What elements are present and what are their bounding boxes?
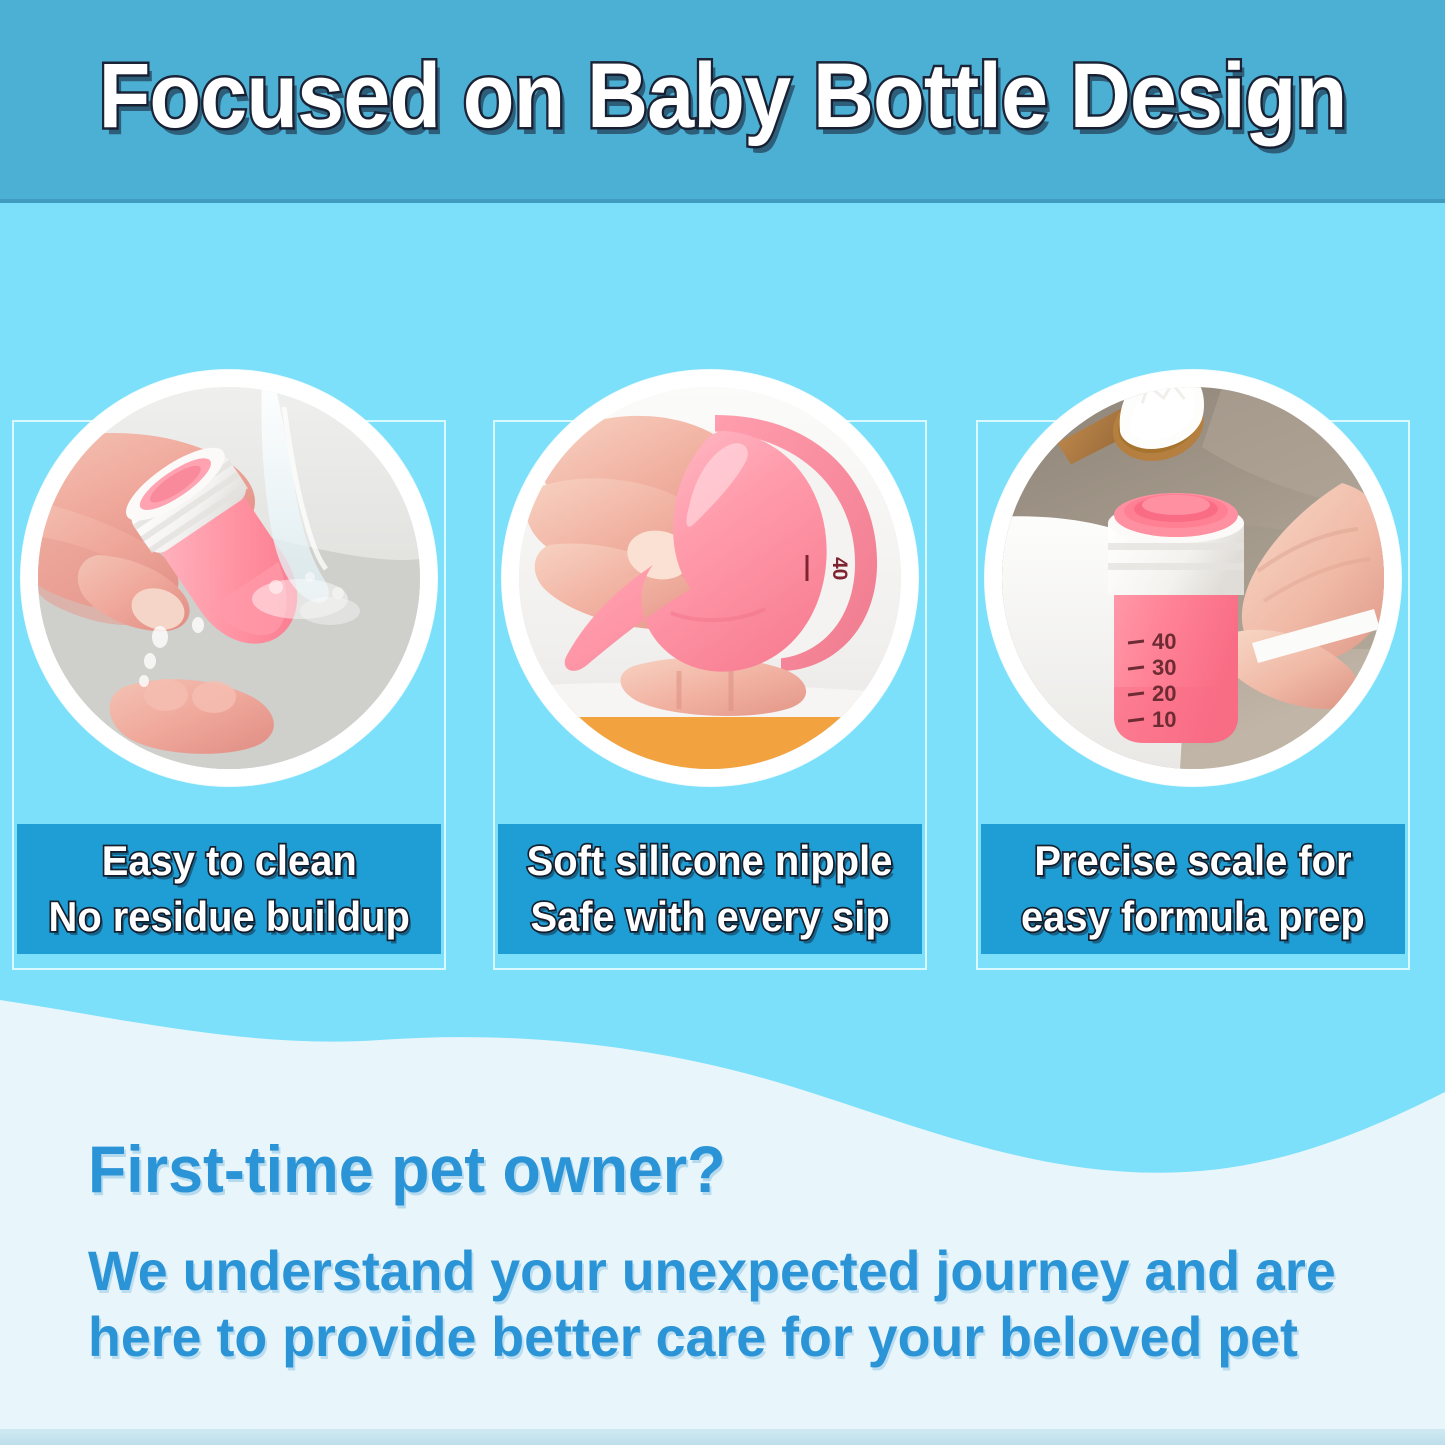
- photo-illustration-1: [38, 387, 420, 769]
- caption-line-3b: easy formula prep: [1021, 889, 1365, 945]
- bottle-scale-label-40: 40: [828, 557, 851, 580]
- bottom-body-text: We understand your unexpected journey an…: [88, 1238, 1368, 1370]
- caption-line-2b: Safe with every sip: [530, 889, 889, 945]
- feature-caption-1: Easy to clean No residue buildup: [17, 824, 441, 954]
- formula-scoop-and-scaled-bottle-photo: 40 30 20 10: [1002, 387, 1384, 769]
- scale-mark-20: 20: [1152, 681, 1176, 706]
- feature-photo-frame-3: 40 30 20 10: [985, 370, 1401, 786]
- squeezing-silicone-nipple-photo: 40: [519, 387, 901, 769]
- scale-mark-10: 10: [1152, 707, 1176, 732]
- bottom-body-line-2: here to provide better care for your bel…: [88, 1304, 1317, 1370]
- scale-mark-40: 40: [1152, 629, 1176, 654]
- feature-caption-3: Precise scale for easy formula prep: [981, 824, 1405, 954]
- caption-line-3a: Precise scale for: [1034, 833, 1351, 889]
- rinsing-bottle-under-water-photo: [38, 387, 420, 769]
- feature-photo-frame-1: [21, 370, 437, 786]
- photo-illustration-2: 40: [519, 387, 901, 769]
- bottom-heading: First-time pet owner?: [88, 1132, 726, 1206]
- feature-caption-2: Soft silicone nipple Safe with every sip: [498, 824, 922, 954]
- scale-mark-30: 30: [1152, 655, 1176, 680]
- feature-card-easy-to-clean: Easy to clean No residue buildup: [12, 420, 446, 970]
- feature-card-soft-nipple: 40 Soft silicone nipple Safe with every …: [493, 420, 927, 970]
- photo-illustration-3: 40 30 20 10: [1002, 387, 1384, 769]
- bottom-body-line-1: We understand your unexpected journey an…: [88, 1238, 1317, 1304]
- caption-line-1a: Easy to clean: [101, 833, 356, 889]
- feature-card-precise-scale: 40 30 20 10 Precise scale for easy formu…: [976, 420, 1410, 970]
- feature-photo-frame-2: 40: [502, 370, 918, 786]
- caption-line-2a: Soft silicone nipple: [527, 833, 893, 889]
- caption-line-1b: No residue buildup: [48, 889, 409, 945]
- product-feature-poster: Focused on Baby Bottle Design: [0, 0, 1445, 1445]
- bottom-edge-strip: [0, 1429, 1445, 1445]
- bottom-message-section: First-time pet owner? We understand your…: [0, 1090, 1445, 1445]
